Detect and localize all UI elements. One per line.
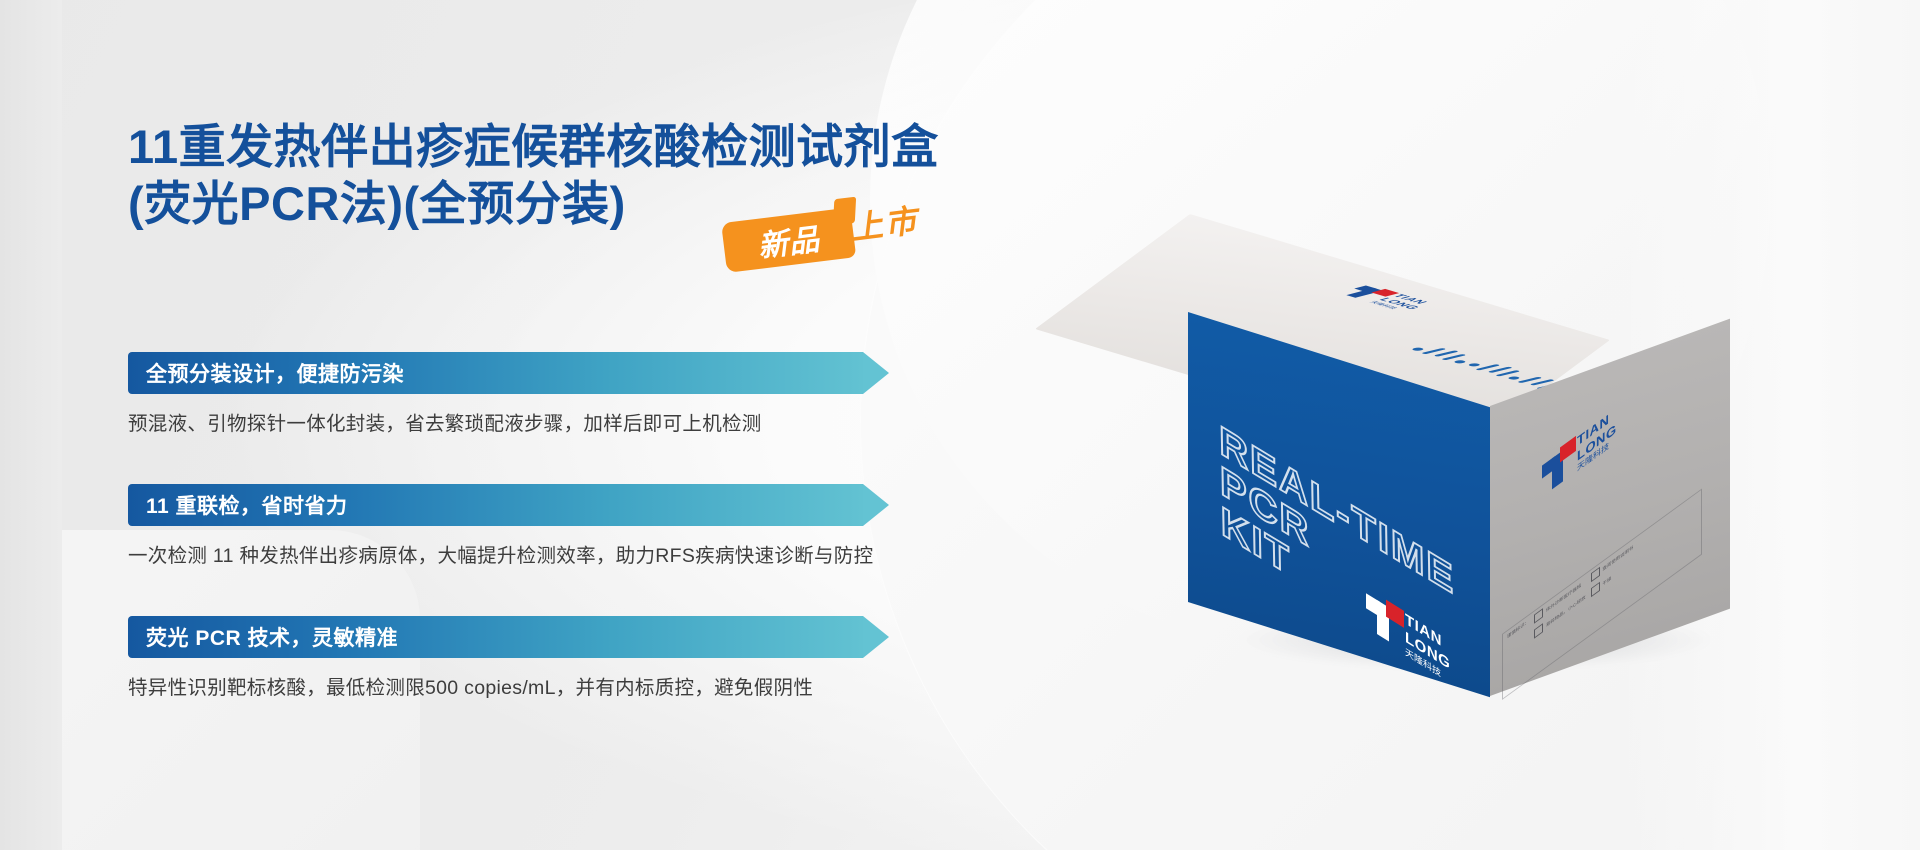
badge-tag-label: 新品 bbox=[755, 215, 822, 266]
feature-heading-text: 11 重联检，省时省力 bbox=[128, 490, 348, 520]
ivd-symbol-icon bbox=[1534, 608, 1543, 624]
feature-description: 特异性识别靶标核酸，最低检测限500 copies/mL，并有内标质控，避免假阴… bbox=[128, 674, 1128, 702]
title-line-1: 11重发热伴出疹症候群核酸检测试剂盒 bbox=[128, 118, 939, 175]
tianlong-logo-side: TIAN LONG 天隆科技 bbox=[1542, 406, 1617, 498]
product-box-image: TIAN LONG 天隆科技 bbox=[1180, 200, 1800, 680]
feature-heading-text: 荧光 PCR 技术，灵敏精准 bbox=[128, 622, 398, 652]
feature-heading-bar: 全预分装设计，便捷防污染 bbox=[128, 352, 888, 394]
feature-list: 全预分装设计，便捷防污染 预混液、引物探针一体化封装，省去繁琐配液步骤，加样后即… bbox=[128, 352, 1128, 702]
feature-heading-text: 全预分装设计，便捷防污染 bbox=[128, 358, 404, 388]
badge-word-label: 上市 bbox=[848, 195, 921, 249]
tianlong-logo-mark-icon bbox=[1542, 439, 1572, 497]
feature-bar-arrow-icon bbox=[863, 484, 889, 526]
fragile-symbol-icon bbox=[1534, 623, 1543, 639]
feature-heading-bar: 荧光 PCR 技术，灵敏精准 bbox=[128, 616, 888, 658]
feature-item: 11 重联检，省时省力 一次检测 11 种发热伴出疹病原体，大幅提升检测效率，助… bbox=[128, 484, 1128, 570]
keep-dry-symbol-icon bbox=[1591, 582, 1600, 598]
feature-description: 预混液、引物探针一体化封装，省去繁琐配液步骤，加样后即可上机检测 bbox=[128, 410, 1128, 438]
feature-bar-arrow-icon bbox=[863, 352, 889, 394]
manual-symbol-icon bbox=[1591, 567, 1600, 583]
feature-bar-arrow-icon bbox=[863, 616, 889, 658]
feature-item: 全预分装设计，便捷防污染 预混液、引物探针一体化封装，省去繁琐配液步骤，加样后即… bbox=[128, 352, 1128, 438]
side-panel-label: 谨慎标识： bbox=[1507, 618, 1529, 640]
tianlong-logo-top: TIAN LONG 天隆科技 bbox=[1336, 284, 1435, 312]
feature-item: 荧光 PCR 技术，灵敏精准 特异性识别靶标核酸，最低检测限500 copies… bbox=[128, 616, 1128, 702]
feature-heading-bar: 11 重联检，省时省力 bbox=[128, 484, 888, 526]
banner-content: 11重发热伴出疹症候群核酸检测试剂盒 (荧光PCR法)(全预分装) 新品 上市 … bbox=[0, 0, 1920, 850]
side-panel-item: 干燥 bbox=[1603, 575, 1612, 587]
feature-description: 一次检测 11 种发热伴出疹病原体，大幅提升检测效率，助力RFS疾病快速诊断与防… bbox=[128, 542, 1128, 570]
